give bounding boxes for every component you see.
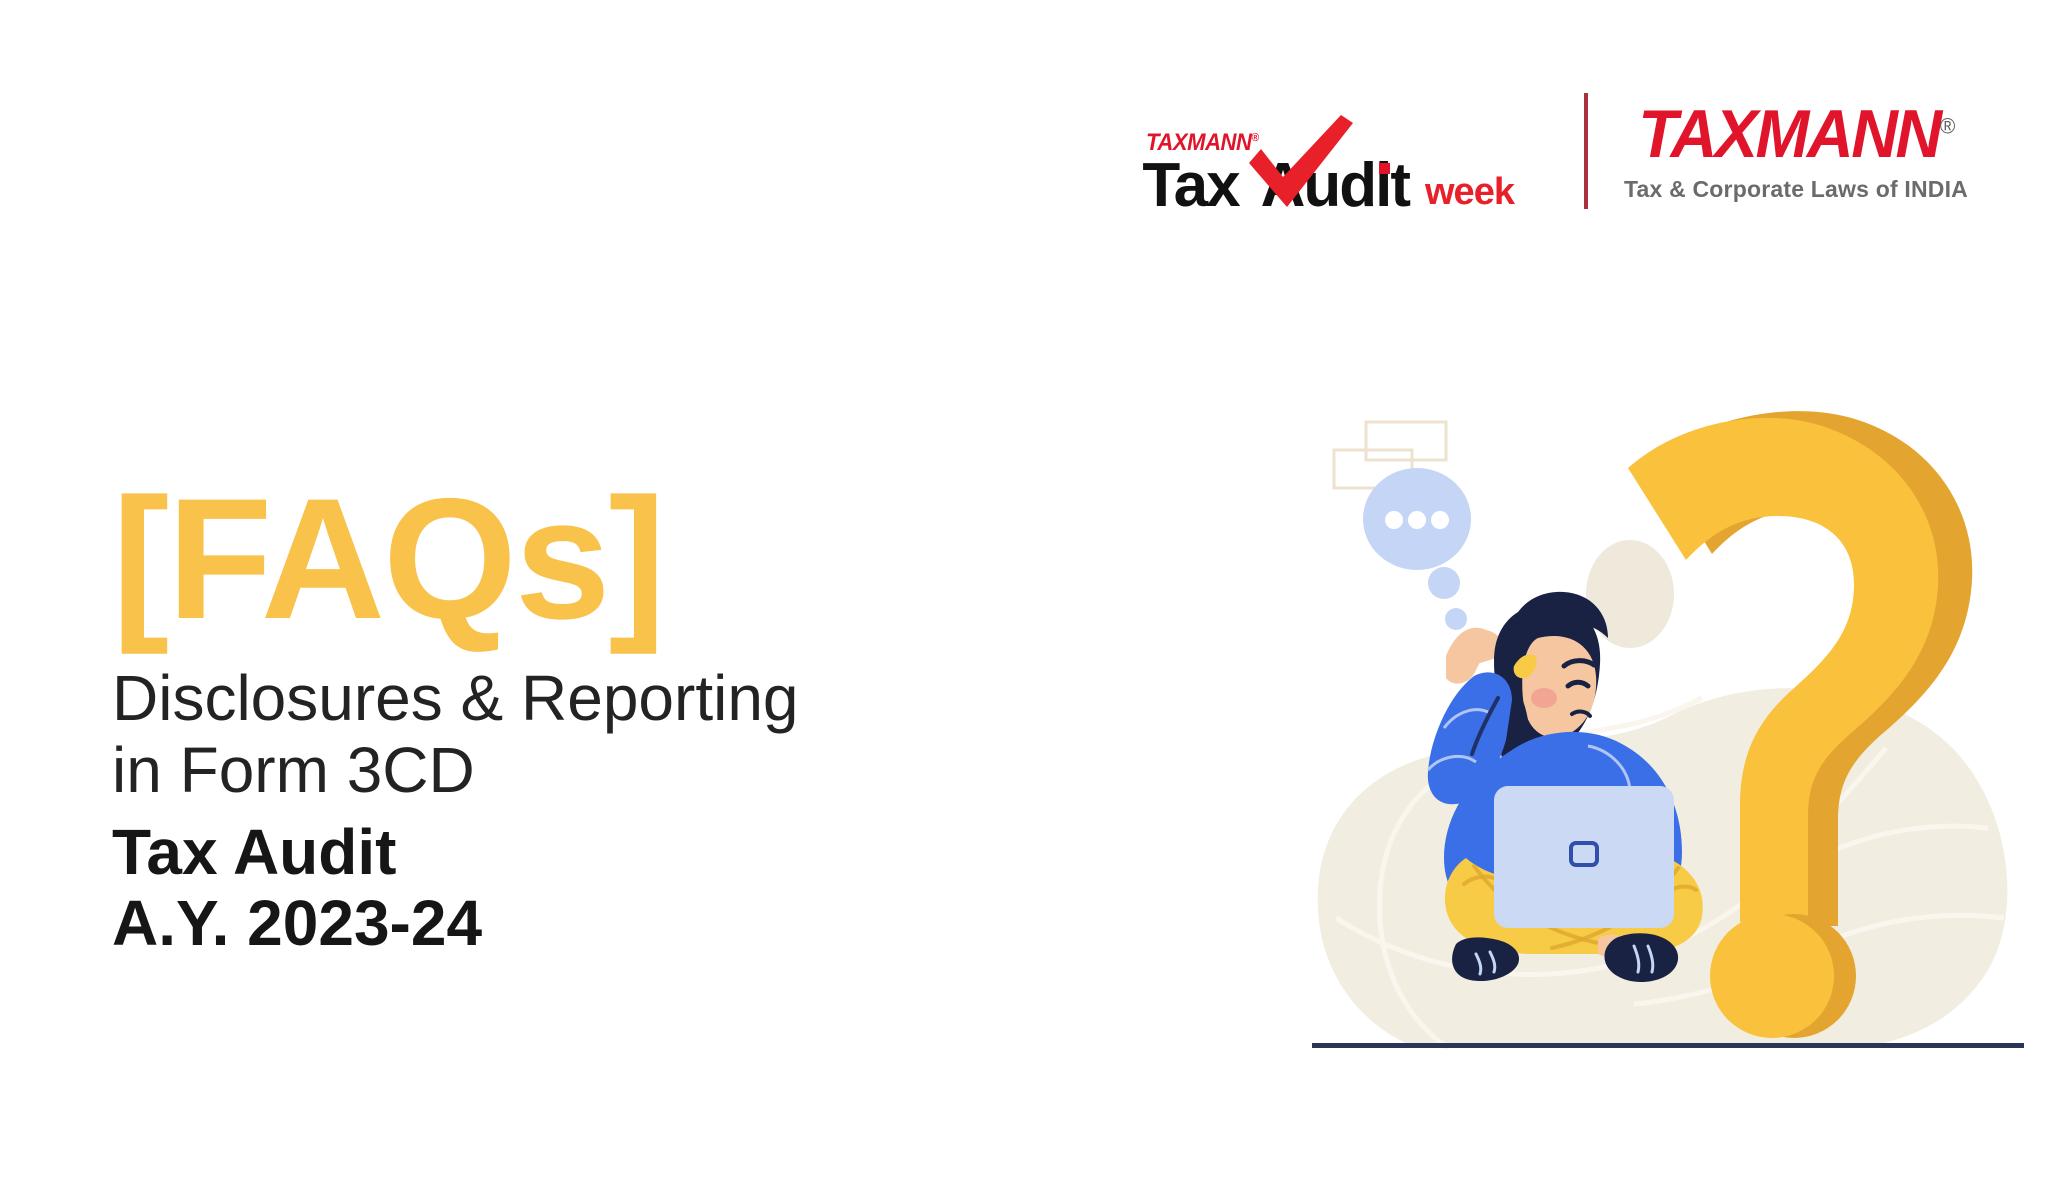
logo-word-week: week xyxy=(1425,173,1514,211)
laptop[interactable] xyxy=(1494,786,1674,928)
taxmann-registered-mark: ® xyxy=(1940,113,1953,138)
person-sitting-cross-legged xyxy=(1428,592,1703,982)
tax-audit-week-stack: TAXMANN® Tax Audit week xyxy=(1142,86,1514,216)
tax-audit-week-logo: TAXMANN® Tax Audit week xyxy=(1142,86,1548,216)
taxmann-brand-text: TAXMANN xyxy=(1639,96,1941,172)
logo-divider xyxy=(1584,93,1588,209)
illustration-svg xyxy=(1298,398,2038,1058)
logo-word-tax: Tax xyxy=(1142,157,1238,216)
tax-audit-week-wordrow: Tax Audit week xyxy=(1142,157,1514,216)
logo-audit-wrap: Audit xyxy=(1261,157,1409,216)
taxmann-logo: TAXMANN® Tax & Corporate Laws of INDIA xyxy=(1624,86,1968,216)
thought-bubble xyxy=(1363,468,1471,630)
page-headline: Tax Audit A.Y. 2023-24 xyxy=(112,817,1032,960)
logo-i-dot-accent xyxy=(1379,163,1390,174)
page-subtitle: Disclosures & Reporting in Form 3CD xyxy=(112,663,1032,806)
hero-illustration xyxy=(1298,398,2038,1058)
beige-oval-accent xyxy=(1586,540,1674,648)
ground-line xyxy=(1312,1043,2024,1048)
taxmann-tagline: Tax & Corporate Laws of INDIA xyxy=(1624,176,1968,203)
logo-word-audit: Audit xyxy=(1261,151,1409,220)
shoe-right xyxy=(1604,933,1678,982)
page-title-faqs: [FAQs] xyxy=(112,472,1032,647)
header-logo-bar: TAXMANN® Tax Audit week TAXMANN® Tax & C… xyxy=(1142,86,1968,216)
taxmann-brand-wordmark: TAXMANN® xyxy=(1639,100,1954,168)
cheek-blush xyxy=(1531,688,1557,708)
title-block: [FAQs] Disclosures & Reporting in Form 3… xyxy=(112,472,1032,960)
question-mark-dot xyxy=(1710,914,1856,1038)
taxmann-microbrand-registered: ® xyxy=(1252,132,1259,144)
